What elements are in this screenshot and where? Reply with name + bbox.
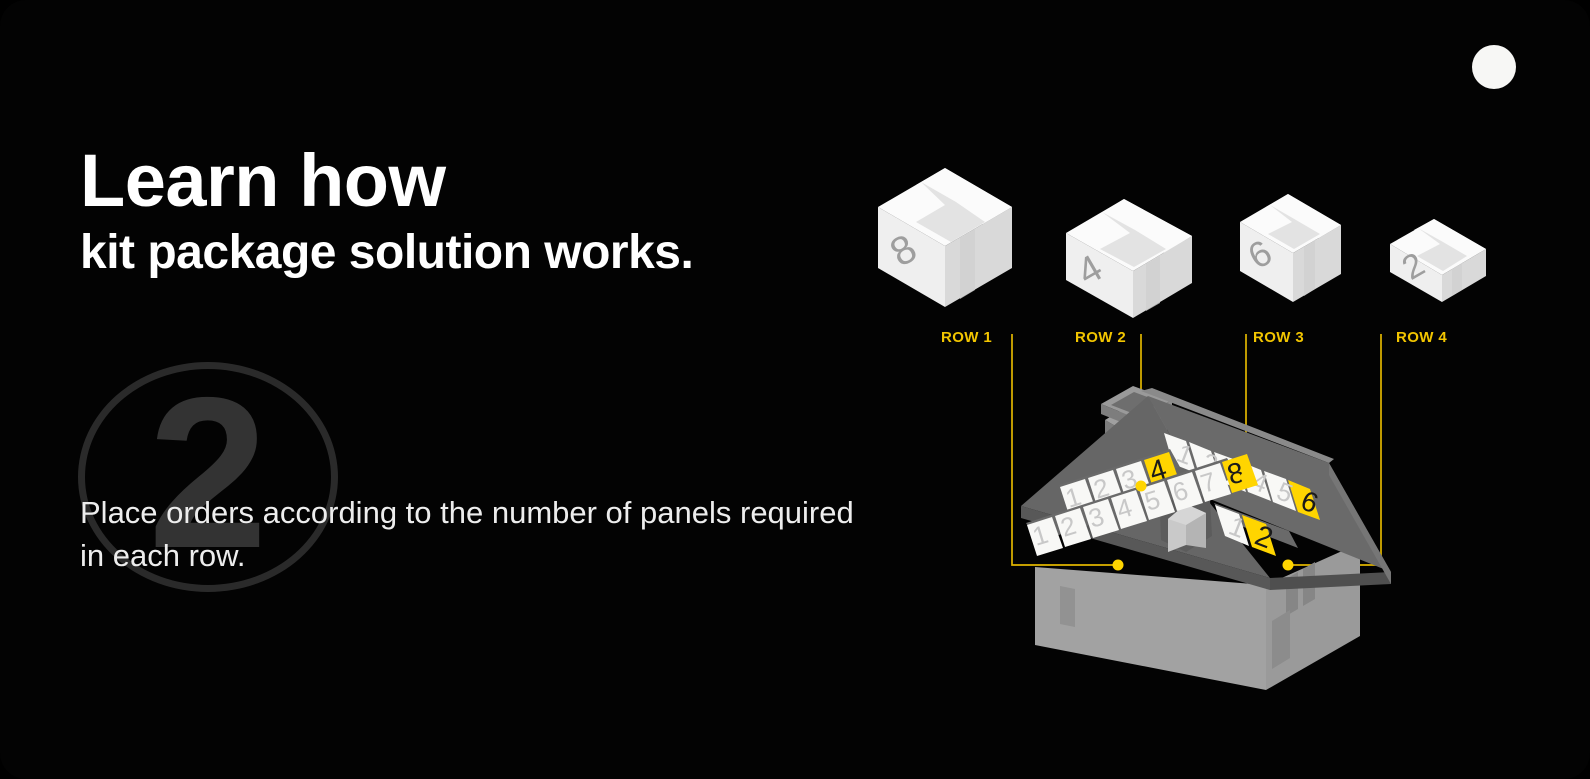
house-wall-front (1035, 567, 1266, 690)
row-label-2: ROW 2 (1075, 329, 1126, 346)
row-label-4: ROW 4 (1396, 329, 1447, 346)
package-box-row-4: 2 (1390, 219, 1486, 302)
body-copy: Place orders according to the number of … (80, 492, 870, 578)
package-box-row-3: 6 (1240, 194, 1341, 302)
kit-package-illustration: 8 4 6 2 (0, 0, 1590, 779)
row-label-3: ROW 3 (1253, 329, 1304, 346)
package-box-row-2: 4 (1066, 199, 1192, 318)
headline-line-2: kit package solution works. (80, 228, 900, 278)
house-window-front (1060, 586, 1075, 627)
headline-line-1: Learn how (80, 146, 900, 216)
page-title: Learn how kit package solution works. (80, 146, 900, 279)
house-illustration: 1 2 3 4 5 6 1 2 (1021, 386, 1391, 690)
leader-dot-row-1 (1113, 560, 1124, 571)
leader-dot-row-4 (1283, 560, 1294, 571)
leader-dot-row-3 (1241, 472, 1252, 483)
corner-dot-icon (1472, 45, 1516, 89)
row-label-1: ROW 1 (941, 329, 992, 346)
infographic-canvas: 2 Learn how kit package solution works. … (0, 0, 1590, 779)
leader-dot-row-2 (1136, 481, 1147, 492)
